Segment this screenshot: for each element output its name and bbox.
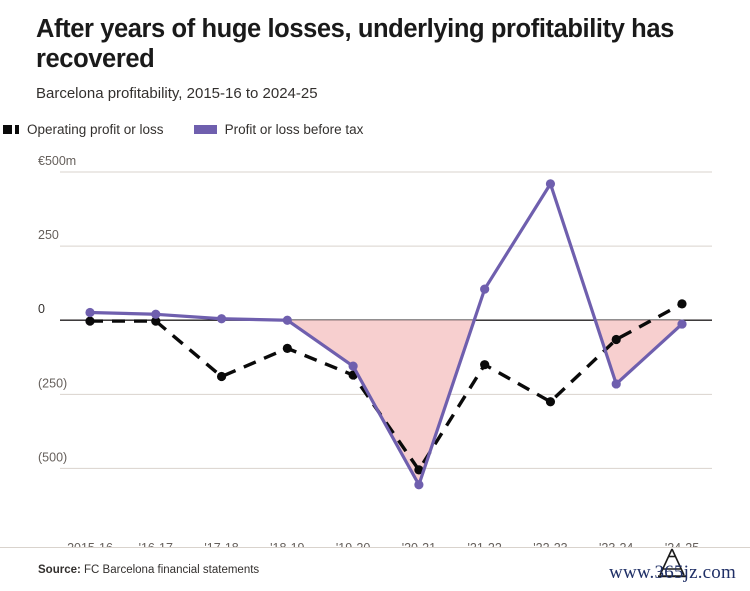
data-point[interactable] [217, 372, 226, 381]
chart-svg: €500m2500(250)(500)2015-16'16-17'17-18'1… [0, 147, 750, 547]
legend-label-profit-before-tax: Profit or loss before tax [225, 122, 364, 137]
data-point[interactable] [283, 344, 292, 353]
solid-line-swatch-icon [194, 125, 217, 134]
data-point[interactable] [85, 317, 94, 326]
chart-header: After years of huge losses, underlying p… [0, 0, 750, 102]
data-point[interactable] [546, 179, 555, 188]
source-text: FC Barcelona financial statements [84, 564, 259, 576]
y-axis-tick-label: 250 [38, 228, 59, 242]
data-point[interactable] [612, 335, 621, 344]
data-point[interactable] [546, 397, 555, 406]
plot-area: €500m2500(250)(500)2015-16'16-17'17-18'1… [0, 147, 750, 547]
data-point[interactable] [677, 320, 686, 329]
chart-legend: Operating profit or loss Profit or loss … [3, 122, 750, 137]
data-point[interactable] [480, 360, 489, 369]
data-point[interactable] [151, 310, 160, 319]
source-label: Source: [38, 564, 81, 576]
data-point[interactable] [85, 308, 94, 317]
chart-footer: Source: FC Barcelona financial statement… [0, 547, 750, 591]
y-axis-tick-label: €500m [38, 154, 76, 168]
chart-page: After years of huge losses, underlying p… [0, 0, 750, 591]
y-axis-tick-label: (250) [38, 376, 67, 390]
data-point[interactable] [480, 285, 489, 294]
legend-item-profit-before-tax[interactable]: Profit or loss before tax [194, 122, 364, 137]
legend-item-operating-profit[interactable]: Operating profit or loss [3, 122, 164, 137]
y-axis-tick-label: 0 [38, 302, 45, 316]
data-point[interactable] [349, 362, 358, 371]
data-point[interactable] [217, 314, 226, 323]
data-point[interactable] [283, 316, 292, 325]
chart-subtitle: Barcelona profitability, 2015-16 to 2024… [36, 85, 710, 102]
legend-label-operating-profit: Operating profit or loss [27, 122, 164, 137]
source-note: Source: FC Barcelona financial statement… [38, 564, 259, 576]
data-point[interactable] [612, 380, 621, 389]
y-axis-tick-label: (500) [38, 451, 67, 465]
brand-area: www.365jz.com [586, 550, 736, 590]
negative-area-fill [595, 320, 682, 384]
data-point[interactable] [677, 299, 686, 308]
data-point[interactable] [414, 480, 423, 489]
watermark-text: www.365jz.com [609, 562, 736, 584]
dashed-line-swatch-icon [3, 125, 19, 134]
page-title: After years of huge losses, underlying p… [36, 14, 710, 74]
